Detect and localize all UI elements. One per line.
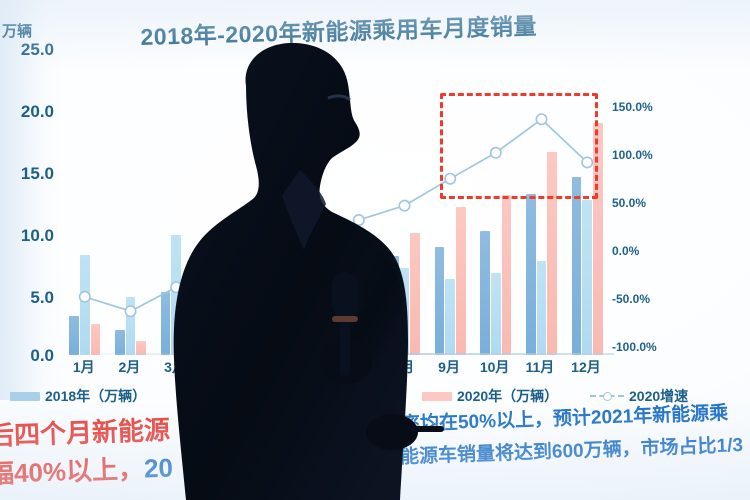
y2-tick-100: 100.0% bbox=[612, 148, 653, 162]
y-axis-unit-label: 万辆 bbox=[2, 20, 32, 41]
y2-tick-0: 0.0% bbox=[612, 244, 639, 258]
y2-tick-150: 150.0% bbox=[612, 100, 653, 114]
legend-label-2020: 2020年（万辆） bbox=[457, 386, 558, 406]
projection-scene: 2018年-2020年新能源乘用车月度销量 万辆 25.0 20.0 15.0 … bbox=[0, 0, 750, 500]
y2-tick-neg100: -100.0% bbox=[612, 340, 657, 354]
y2-tick-50: 50.0% bbox=[612, 196, 646, 210]
x-label-11月: 11月 bbox=[526, 357, 555, 377]
x-label-2月: 2月 bbox=[119, 357, 141, 377]
legend-dashed-line-icon bbox=[590, 395, 624, 397]
presenter-silhouette bbox=[150, 40, 450, 500]
presenter-lower-hand bbox=[366, 414, 418, 450]
growth-marker-2月 bbox=[125, 306, 135, 316]
y-tick-25: 25.0 bbox=[21, 40, 54, 60]
y-tick-5: 5.0 bbox=[30, 288, 54, 308]
caption-line-1: 后四个月新能源 bbox=[0, 410, 171, 453]
y-axis-left: 25.0 20.0 15.0 10.0 5.0 0.0 bbox=[0, 40, 58, 360]
y-tick-15: 15.0 bbox=[21, 164, 54, 184]
highlight-annotation-box bbox=[440, 93, 598, 199]
legend-item-2018: 2018年（万辆） bbox=[10, 386, 146, 406]
presenter-shape bbox=[150, 40, 450, 500]
legend-swatch-2018 bbox=[10, 392, 40, 401]
caption-line-1-red: 后四个月新能源 bbox=[0, 415, 170, 451]
y-tick-10: 10.0 bbox=[21, 226, 54, 246]
y-axis-right: 150.0% 100.0% 50.0% 0.0% -50.0% -100.0% bbox=[612, 100, 732, 350]
y-tick-20: 20.0 bbox=[21, 102, 54, 122]
x-label-1月: 1月 bbox=[73, 357, 95, 377]
presenter-pointer bbox=[408, 426, 444, 432]
growth-marker-1月 bbox=[80, 292, 90, 302]
caption-line-4: 能源车销量将达到600万辆，市场占比1/3 bbox=[400, 430, 744, 469]
caption-line-2-red: 幅40%以上， bbox=[0, 454, 145, 489]
caption-line-2: 幅40%以上，20 bbox=[0, 448, 174, 491]
x-label-10月: 10月 bbox=[480, 357, 510, 377]
x-label-12月: 12月 bbox=[571, 357, 601, 377]
legend-label-2018: 2018年（万辆） bbox=[45, 386, 146, 406]
y2-tick-neg50: -50.0% bbox=[612, 292, 650, 306]
y-tick-0: 0.0 bbox=[30, 346, 54, 366]
